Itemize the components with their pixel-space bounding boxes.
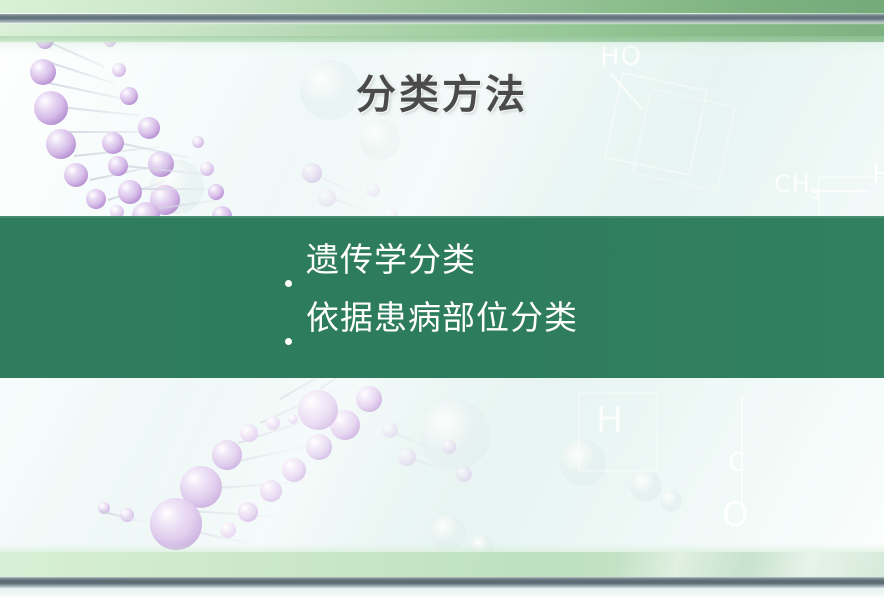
bond-line	[810, 190, 870, 192]
bullet-list: 遗传学分类 依据患病部位分类	[282, 236, 842, 352]
content-band-top-edge	[0, 216, 884, 218]
bottom-edge-strip	[0, 588, 884, 597]
list-item-label: 依据患病部位分类	[306, 294, 578, 342]
list-item: 依据患病部位分类	[282, 294, 842, 342]
bottom-divider-line	[0, 577, 884, 588]
slide-canvas: HO CH 3 C O H H	[0, 0, 884, 597]
top-band-fade	[0, 36, 884, 54]
top-divider-line	[0, 14, 884, 23]
list-item: 遗传学分类	[282, 236, 842, 284]
list-item-label: 遗传学分类	[306, 236, 476, 284]
bond-line	[741, 397, 743, 507]
page-title: 分类方法	[0, 72, 884, 118]
